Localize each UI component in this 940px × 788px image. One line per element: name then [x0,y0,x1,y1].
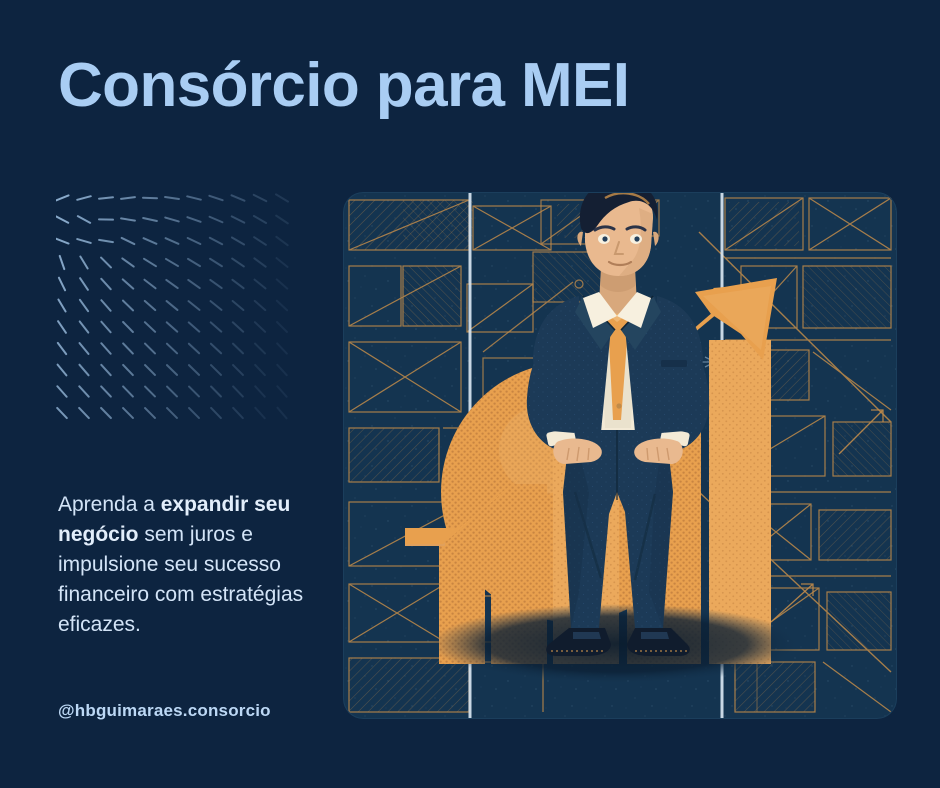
dash-mark [189,322,200,331]
dash-mark [211,301,222,310]
dash-mark [254,258,265,266]
dash-mark [255,280,266,289]
dash-mark [56,195,69,200]
dash-mark [101,300,110,311]
dash-mark [57,386,66,396]
dash-mark [211,322,222,331]
social-handle: @hbguimaraes.consorcio [58,701,271,721]
dash-mark [58,321,66,333]
dash-mark [255,322,265,332]
dash-mark [254,237,266,245]
page-title: Consórcio para MEI [58,52,629,120]
dash-mark [145,322,155,332]
body-copy-part-1: Aprenda a [58,493,161,516]
dash-mark [277,386,286,397]
dash-mark [80,257,87,269]
dash-mark [121,197,135,199]
dash-mark [189,408,199,418]
dash-mark [122,258,133,266]
dash-mark [211,408,221,418]
dash-mark [77,196,91,200]
dash-mark [99,197,113,199]
dash-mark [276,194,288,201]
dash-mark [210,259,222,266]
dash-mark [209,196,222,200]
dash-mark [277,279,288,288]
dash-mark [80,300,88,311]
dash-mark [77,239,90,243]
dash-mark [167,322,177,331]
dash-mark [101,343,110,353]
dash-mark [166,280,177,288]
dash-mark [254,216,266,223]
dash-mark [144,238,157,244]
dash-mark [211,387,221,397]
dash-mark [233,408,243,418]
dash-mark [232,195,245,200]
dash-mark [80,278,88,290]
dash-mark [277,408,286,419]
dash-mark [167,387,177,397]
dash-mark [189,301,200,310]
dash-mark [189,365,199,375]
dash-mark [255,301,266,310]
dash-mark [211,344,221,354]
dash-mark [122,238,135,244]
dash-mark [277,365,286,375]
dash-mark [80,343,89,354]
dash-mark [166,259,178,266]
dash-mark [79,386,88,396]
dash-mark [145,387,155,397]
dash-mark [167,301,178,310]
dash-mark [59,278,65,291]
dash-mark [276,237,287,245]
dash-mark [123,301,133,311]
dash-mark [277,322,287,332]
dash-mark [144,280,155,289]
illustration-card [343,192,897,719]
dash-mark [187,196,201,199]
dash-mark [189,387,199,397]
dash-mark [188,259,200,266]
dash-mark [58,343,66,354]
dash-mark [123,408,133,418]
dash-mark [101,279,110,289]
dash-mark [233,365,243,375]
dash-mark [101,322,110,333]
dash-mark [232,237,244,244]
dash-mark [187,217,200,222]
dash-mark [143,218,157,221]
dash-mark [276,216,288,224]
dash-mark [57,408,67,418]
dash-mark [123,386,133,396]
dash-mark [80,321,89,332]
dash-mark [166,238,179,244]
jacket-button [616,403,621,408]
dash-mark [165,197,179,199]
dash-mark [232,280,243,288]
dash-mark [123,279,133,288]
dash-mark [56,238,69,243]
dash-mark [145,344,155,354]
dash-mark [277,343,287,353]
dash-mark [123,322,133,332]
dash-mark [144,259,156,266]
dash-mark [165,218,178,222]
dash-mark [167,365,177,375]
dash-mark [121,218,135,220]
dash-mark [99,240,113,242]
dash-mark [79,408,89,418]
dash-mark [232,216,245,222]
dash-mark [211,365,221,375]
dash-mark [60,256,65,269]
dash-mark [123,343,133,353]
dash-mark [58,299,65,311]
dash-mark [210,217,223,223]
dash-mark [188,280,199,288]
poster-canvas: Consórcio para MEI Aprenda a expandir se… [0,0,940,788]
dash-mark [254,195,266,201]
dash-mark [233,322,243,331]
dash-mark [189,344,199,354]
dash-mark [78,216,90,223]
dash-mark [188,238,201,244]
dash-grid-svg [56,192,296,430]
dash-mark [101,386,111,396]
dash-mark [255,408,264,418]
dash-mark [101,408,111,418]
illustration-svg [343,192,897,719]
dash-mark [232,259,244,267]
dash-mark [145,365,155,375]
dash-mark [79,365,88,376]
dash-mark [145,301,156,310]
dash-mark [210,238,222,245]
dash-mark [210,280,221,288]
dash-mark [167,344,177,354]
dash-mark [167,408,177,418]
dash-mark [277,301,287,311]
dash-mark [101,258,111,268]
dash-mark [255,344,265,354]
dash-mark [255,386,265,396]
dash-mark [101,365,110,375]
dash-mark [56,216,68,222]
dash-mark [255,365,265,375]
dash-mark [145,408,155,418]
breast-pocket [661,360,687,367]
body-copy: Aprenda a expandir seu negócio sem juros… [58,490,326,640]
dash-mark [123,365,133,375]
dash-grid-decoration [56,192,296,430]
dash-mark [233,386,243,396]
ground-shadow [431,604,803,684]
dash-mark [277,258,288,267]
dash-mark [58,365,67,376]
dash-mark [233,301,244,310]
dash-mark [233,344,243,354]
